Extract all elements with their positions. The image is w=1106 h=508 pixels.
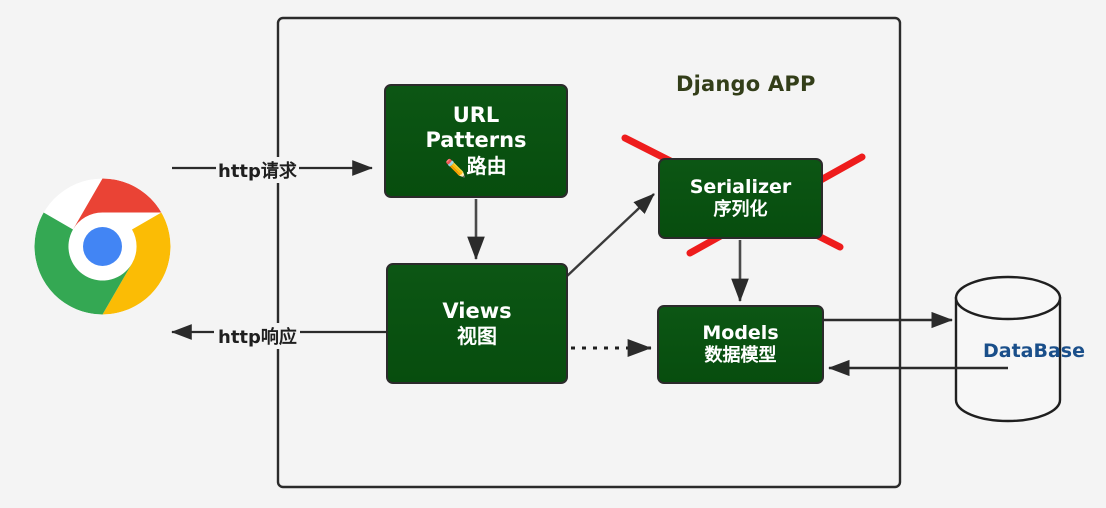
serializer-label-line2: 序列化 xyxy=(714,199,768,221)
http-response-label: http响应 xyxy=(216,323,299,349)
database-label: DataBase xyxy=(983,340,1085,362)
views-label-line1: Views xyxy=(442,299,511,325)
models-label-line1: Models xyxy=(702,322,778,345)
http-request-label: http请求 xyxy=(216,157,299,183)
serializer-label-line1: Serializer xyxy=(690,176,792,199)
chrome-browser-logo xyxy=(34,178,171,315)
models-label-line2: 数据模型 xyxy=(705,345,777,367)
pencil-icon: ✏️ xyxy=(445,159,466,179)
url-patterns-box[interactable]: URL Patterns ✏️路由 xyxy=(384,84,568,198)
serializer-box[interactable]: Serializer 序列化 xyxy=(658,158,823,239)
diagram-canvas: Django APP URL Patterns ✏️路由 Views 视图 Se… xyxy=(0,0,1106,508)
models-box[interactable]: Models 数据模型 xyxy=(657,305,824,384)
url-patterns-label-line1: URL xyxy=(453,103,500,129)
url-patterns-label-line3: ✏️路由 xyxy=(445,154,506,180)
url-patterns-label-cjk: 路由 xyxy=(467,154,507,178)
edge-views-serializer-line xyxy=(566,194,654,277)
django-app-title: Django APP xyxy=(676,72,816,96)
views-label-line2: 视图 xyxy=(457,324,497,348)
views-box[interactable]: Views 视图 xyxy=(386,263,568,384)
url-patterns-label-line2: Patterns xyxy=(425,128,526,154)
